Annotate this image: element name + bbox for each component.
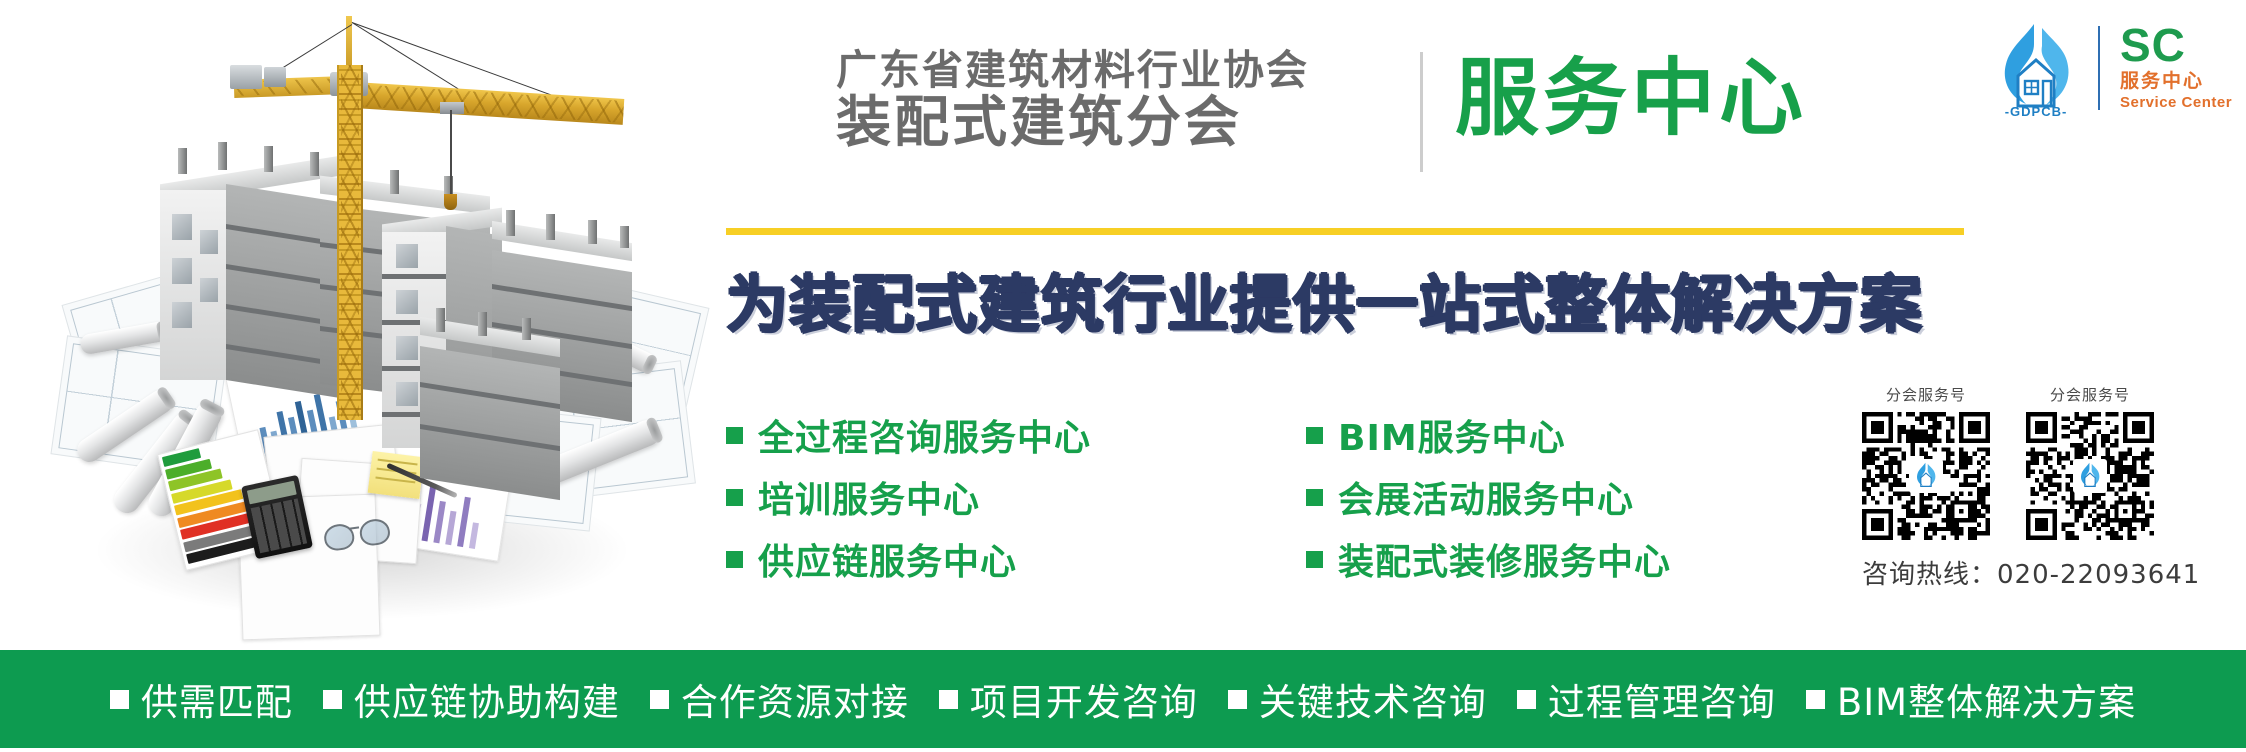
qr-code-row: 分会服务号 分会服务号 [1862, 384, 2182, 540]
service-item-label: BIM服务中心 [1338, 409, 1566, 461]
qr-code-subscription-1[interactable] [1862, 412, 1990, 540]
qr-code-subscription-2[interactable] [2026, 412, 2154, 540]
qr-code-cell: 分会服务号 [2026, 384, 2154, 540]
bottom-bar-item[interactable]: 关键技术咨询 [1228, 672, 1487, 726]
service-item-label: 全过程咨询服务中心 [758, 409, 1091, 461]
square-bullet-icon [1517, 690, 1536, 709]
bottom-service-bar: 供需匹配 供应链协助构建 合作资源对接 项目开发咨询 关键技术咨询 过程管理咨询 [0, 650, 2246, 748]
bottom-bar-item-label: BIM整体解决方案 [1837, 672, 2136, 726]
qr-code-cell: 分会服务号 [1862, 384, 1990, 540]
bottom-bar-item-label: 供应链协助构建 [354, 672, 620, 726]
bottom-bar-item[interactable]: 合作资源对接 [650, 672, 909, 726]
square-bullet-icon [323, 690, 342, 709]
bottom-service-list: 供需匹配 供应链协助构建 合作资源对接 项目开发咨询 关键技术咨询 过程管理咨询 [110, 672, 2136, 726]
title-vertical-divider [1420, 52, 1423, 172]
main-tagline: 为装配式建筑行业提供一站式整体解决方案 [726, 254, 1923, 344]
construction-site-illustration [52, 10, 692, 640]
square-bullet-icon [110, 690, 129, 709]
qr-code-label: 分会服务号 [1862, 384, 1990, 405]
service-item[interactable]: 供应链服务中心 [726, 528, 1091, 590]
qr-code-area: 分会服务号 分会服务号 [1862, 384, 2182, 591]
service-item-label: 培训服务中心 [758, 471, 980, 523]
logo-divider [2098, 26, 2100, 110]
service-item[interactable]: BIM服务中心 [1306, 404, 1671, 466]
service-item[interactable]: 会展活动服务中心 [1306, 466, 1671, 528]
qr-code-label: 分会服务号 [2026, 384, 2154, 405]
bottom-bar-item-label: 合作资源对接 [681, 672, 909, 726]
hotline-text: 咨询热线：020-22093641 [1862, 554, 2182, 591]
square-bullet-icon [1306, 427, 1323, 444]
bottom-bar-item-label: 过程管理咨询 [1548, 672, 1776, 726]
bottom-bar-item[interactable]: 供需匹配 [110, 672, 293, 726]
association-name-line1: 广东省建筑材料行业协会 [836, 48, 1309, 94]
service-center-heading: 服务中心 [1455, 46, 1807, 151]
logo-english-text: Service Center [2120, 94, 2232, 112]
organization-logo: -GDPCB- SC 服务中心 Service Center [1988, 18, 2238, 126]
square-bullet-icon [1806, 690, 1825, 709]
service-item[interactable]: 全过程咨询服务中心 [726, 404, 1091, 466]
service-item[interactable]: 培训服务中心 [726, 466, 1091, 528]
promotional-banner: 广东省建筑材料行业协会 装配式建筑分会 服务中心 为装配式建筑行业提供一站式整体… [0, 0, 2246, 752]
square-bullet-icon [726, 489, 743, 506]
bottom-bar-item-label: 项目开发咨询 [970, 672, 1198, 726]
tower-crane [52, 10, 692, 480]
logo-text-block: SC 服务中心 Service Center [2120, 22, 2232, 112]
association-name-line2: 装配式建筑分会 [836, 92, 1309, 153]
bottom-bar-item[interactable]: BIM整体解决方案 [1806, 672, 2136, 726]
bottom-bar-item[interactable]: 过程管理咨询 [1517, 672, 1776, 726]
square-bullet-icon [726, 551, 743, 568]
square-bullet-icon [650, 690, 669, 709]
square-bullet-icon [1228, 690, 1247, 709]
service-item-label: 装配式装修服务中心 [1338, 533, 1671, 585]
qr-center-logo-icon [2073, 459, 2107, 493]
logo-caption: -GDPCB- [1988, 104, 2084, 119]
bottom-bar-item[interactable]: 供应链协助构建 [323, 672, 620, 726]
square-bullet-icon [1306, 489, 1323, 506]
square-bullet-icon [726, 427, 743, 444]
qr-center-logo-icon [1909, 459, 1943, 493]
logo-chinese-text: 服务中心 [2120, 70, 2232, 94]
service-column-right: BIM服务中心 会展活动服务中心 装配式装修服务中心 [1306, 404, 1671, 590]
bottom-bar-item-label: 关键技术咨询 [1259, 672, 1487, 726]
square-bullet-icon [939, 690, 958, 709]
service-item-label: 会展活动服务中心 [1338, 471, 1634, 523]
bottom-bar-item[interactable]: 项目开发咨询 [939, 672, 1198, 726]
service-column-left: 全过程咨询服务中心 培训服务中心 供应链服务中心 [726, 404, 1091, 590]
yellow-divider-rule [726, 228, 1964, 235]
logo-sc-text: SC [2120, 22, 2232, 68]
service-item-label: 供应链服务中心 [758, 533, 1017, 585]
service-item[interactable]: 装配式装修服务中心 [1306, 528, 1671, 590]
header-title-block: 广东省建筑材料行业协会 装配式建筑分会 [836, 48, 1309, 152]
bottom-bar-item-label: 供需匹配 [141, 672, 293, 726]
square-bullet-icon [1306, 551, 1323, 568]
